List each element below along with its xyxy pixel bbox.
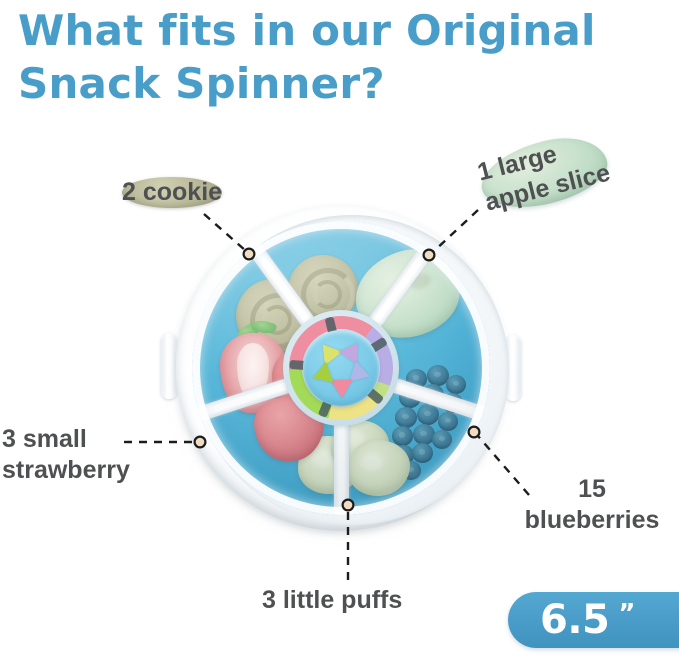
compartment-tray <box>192 221 490 515</box>
spinner-knob[interactable] <box>303 330 379 406</box>
spinner-hub[interactable] <box>283 310 399 426</box>
knob-triangle <box>330 380 353 399</box>
callout-label-blueberries: 15 blueberries <box>508 474 676 536</box>
size-badge: 6.5 ” <box>508 592 679 648</box>
page-title: What fits in our Original Snack Spinner? <box>18 4 668 110</box>
callout-label-puffs: 3 little puffs <box>262 585 402 616</box>
callout-label-strawberry: 3 small strawberry <box>2 424 130 486</box>
knob-triangle <box>339 337 367 364</box>
snack-spinner-illustration <box>165 203 517 533</box>
callout-label-apple: 1 large apple slice <box>474 127 613 218</box>
callout-label-cookie: 2 cookie <box>122 177 222 208</box>
size-badge-value: 6.5 <box>540 600 609 640</box>
size-badge-unit: ” <box>618 599 635 629</box>
knob-triangle <box>350 361 373 387</box>
infographic-canvas: What fits in our Original Snack Spinner? <box>0 0 679 661</box>
side-latch-left <box>161 333 177 399</box>
